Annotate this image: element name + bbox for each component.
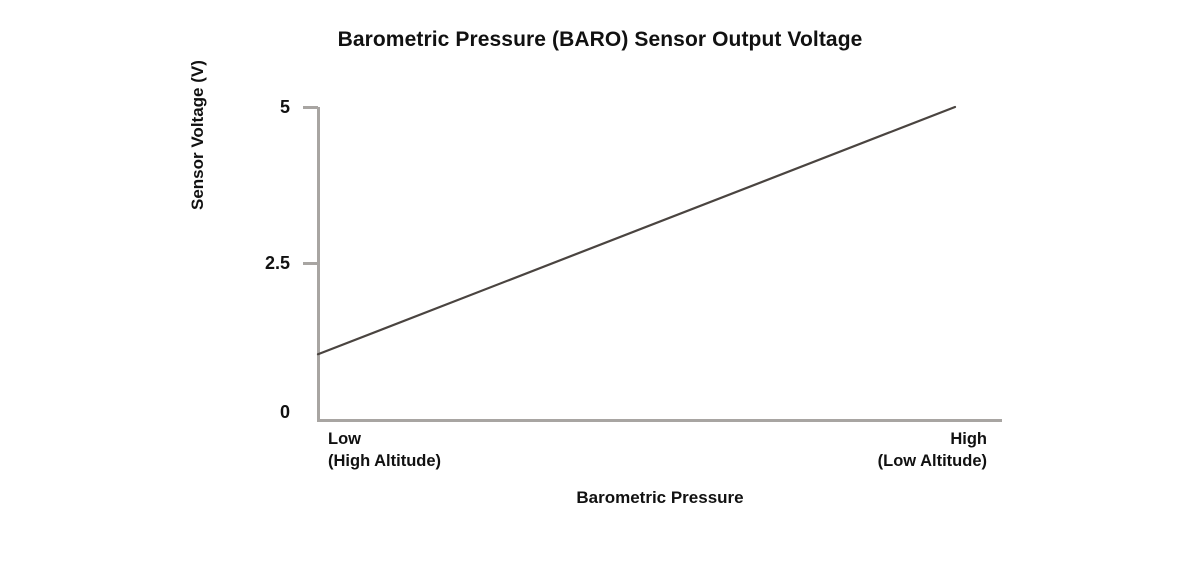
x-tick-right-secondary: (Low Altitude) [878, 450, 987, 472]
x-tick-right-primary: High [878, 428, 987, 450]
x-axis-label: Barometric Pressure [318, 488, 1002, 508]
x-tick-label-left: Low (High Altitude) [328, 428, 441, 473]
chart-figure: Barometric Pressure (BARO) Sensor Output… [0, 0, 1200, 579]
x-tick-left-primary: Low [328, 428, 441, 450]
data-series-line [318, 107, 955, 354]
x-tick-left-secondary: (High Altitude) [328, 450, 441, 472]
x-tick-label-right: High (Low Altitude) [878, 428, 987, 473]
